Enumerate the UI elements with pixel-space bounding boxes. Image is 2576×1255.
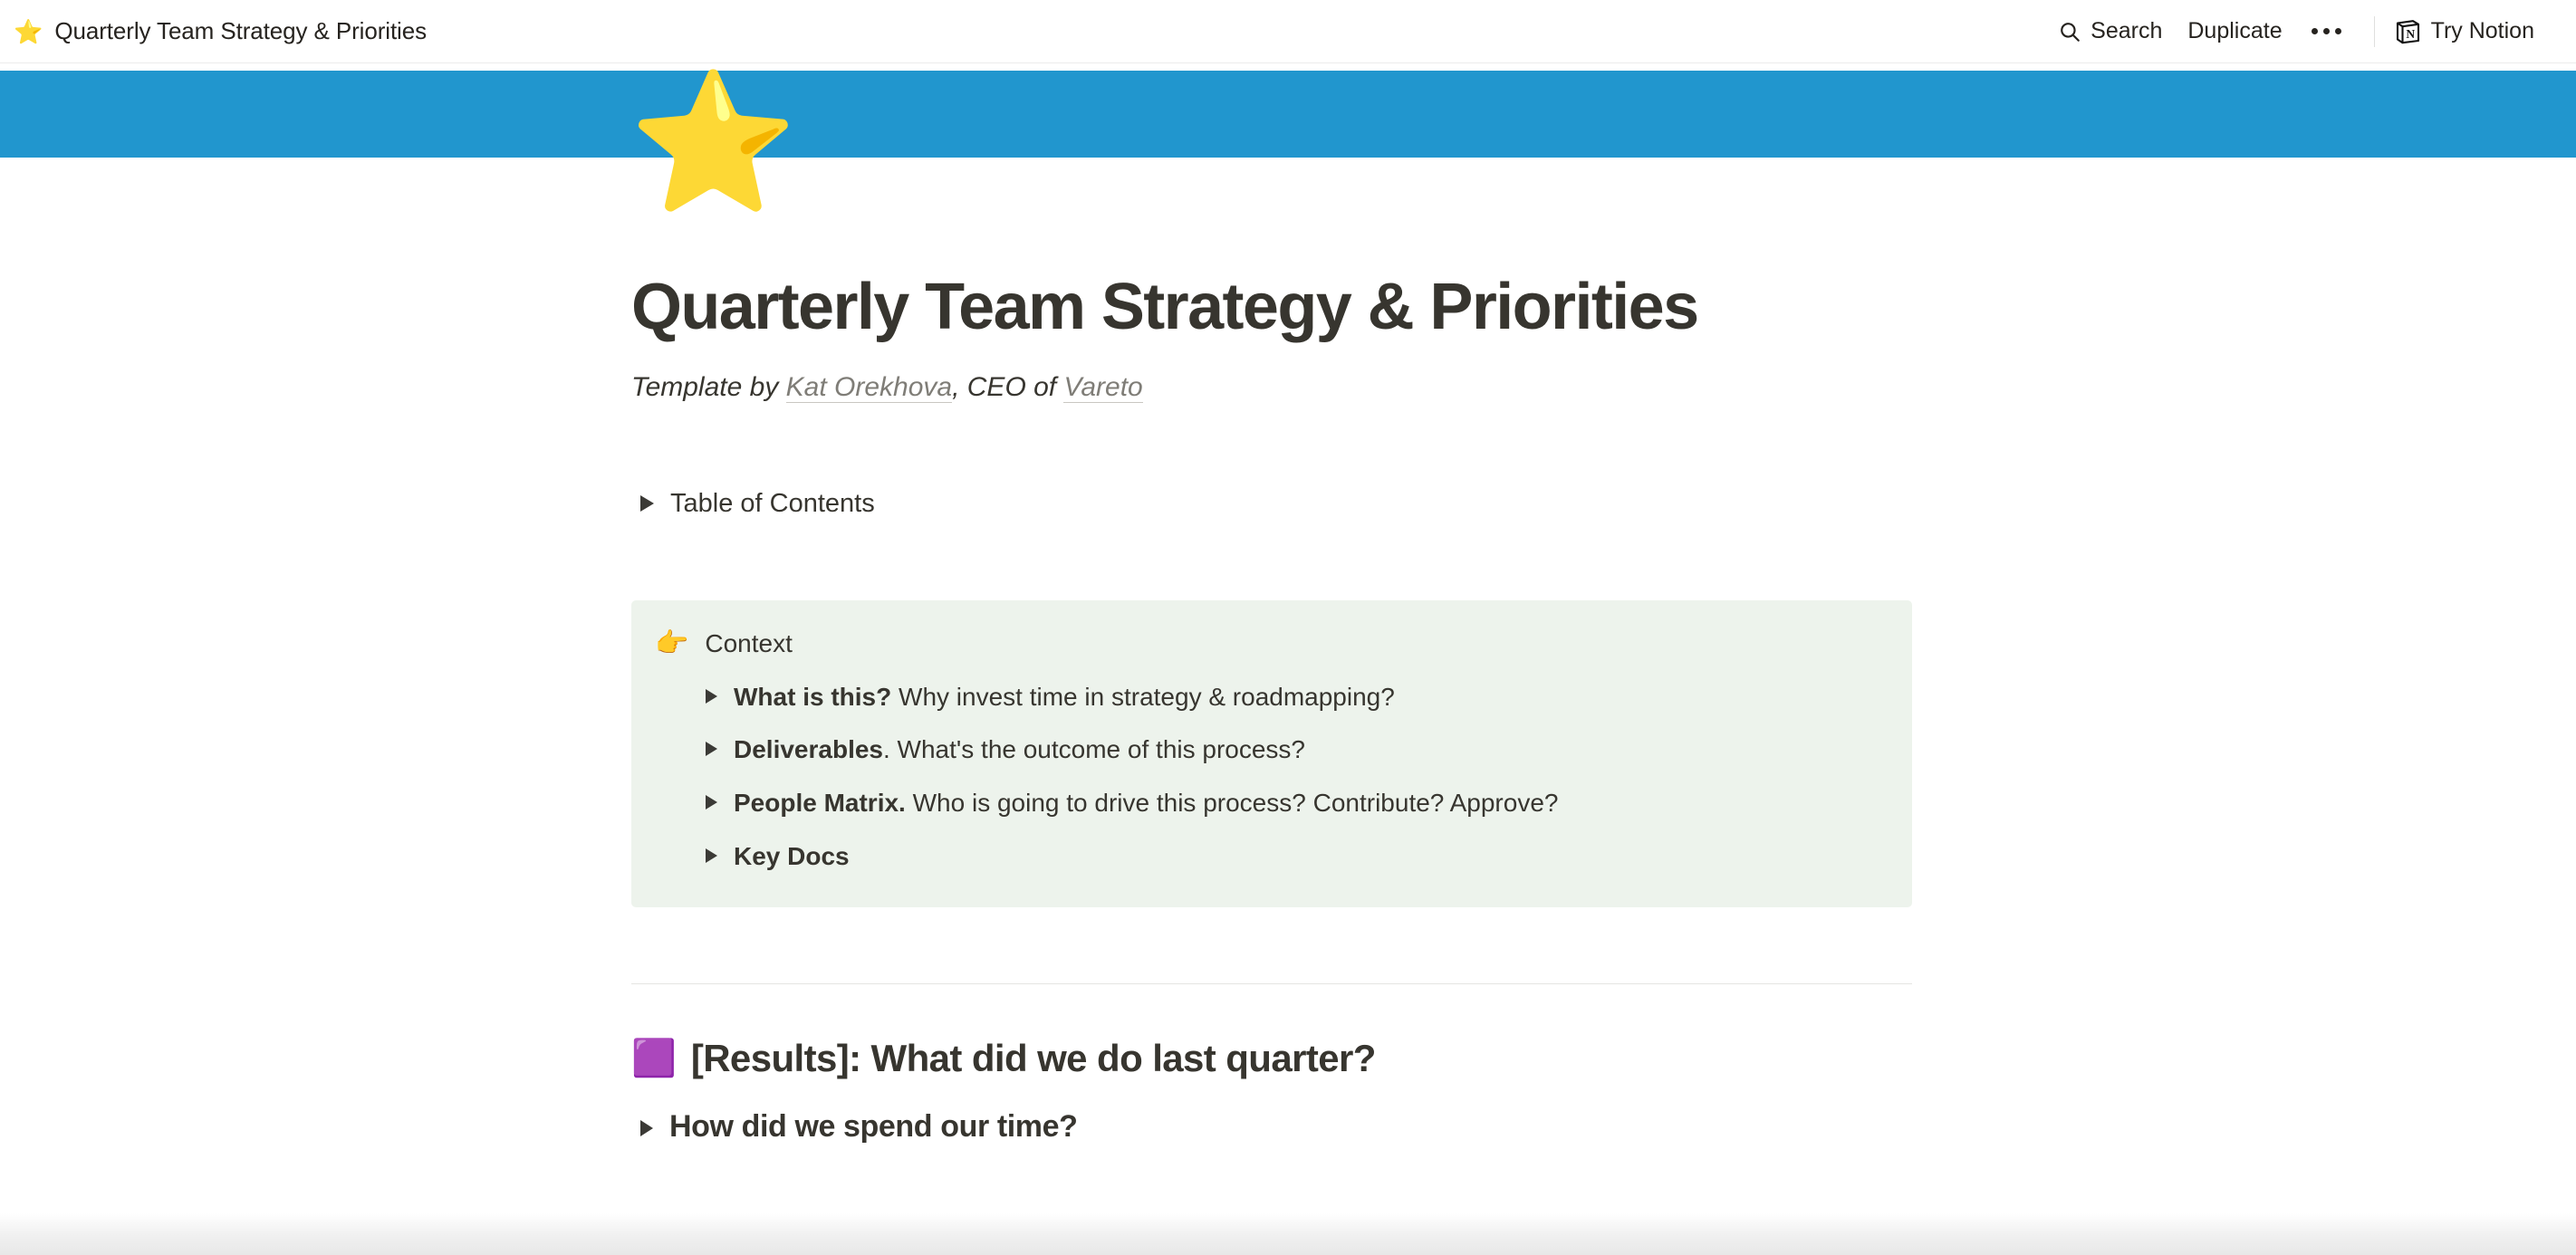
- toggle-label-bold: What is this?: [734, 683, 891, 711]
- byline-middle: , CEO of: [952, 372, 1063, 402]
- table-of-contents-label: Table of Contents: [670, 484, 875, 522]
- toggle-key-docs[interactable]: Key Docs: [706, 838, 1881, 876]
- top-bar: ⭐ Quarterly Team Strategy & Priorities S…: [0, 0, 2576, 63]
- try-notion-button[interactable]: N Try Notion: [2393, 12, 2547, 52]
- toggle-label-bold: Deliverables: [734, 735, 883, 763]
- results-heading: 🟪 [Results]: What did we do last quarter…: [631, 1037, 1912, 1080]
- toggle-people-matrix[interactable]: People Matrix. Who is going to drive thi…: [706, 785, 1881, 822]
- duplicate-button-label: Duplicate: [2187, 18, 2282, 44]
- toggle-label-rest: Who is going to drive this process? Cont…: [906, 789, 1559, 817]
- search-icon: [2058, 20, 2081, 43]
- toggle-table-of-contents[interactable]: Table of Contents: [631, 484, 1912, 522]
- byline-prefix: Template by: [631, 372, 786, 402]
- company-link[interactable]: Vareto: [1063, 372, 1142, 403]
- star-icon: ⭐: [14, 20, 43, 43]
- byline: Template by Kat Orekhova, CEO of Vareto: [631, 369, 1912, 407]
- callout-toggle-list: What is this? Why invest time in strateg…: [655, 679, 1881, 875]
- toggle-deliverables[interactable]: Deliverables. What's the outcome of this…: [706, 732, 1881, 769]
- search-button-label: Search: [2091, 18, 2162, 44]
- chevron-right-icon[interactable]: [640, 1120, 653, 1136]
- toggle-what-is-this[interactable]: What is this? Why invest time in strateg…: [706, 679, 1881, 716]
- svg-text:N: N: [2406, 27, 2415, 41]
- context-callout: 👉 Context What is this? Why invest time …: [631, 600, 1912, 907]
- callout-title: Context: [705, 626, 793, 661]
- top-bar-left: ⭐ Quarterly Team Strategy & Priorities: [11, 17, 427, 45]
- toggle-label-bold: Key Docs: [734, 842, 850, 870]
- chevron-right-icon[interactable]: [706, 795, 717, 810]
- dot-icon: [2312, 28, 2318, 34]
- bottom-fade-overlay: [0, 1213, 2576, 1255]
- toggle-label: What is this? Why invest time in strateg…: [734, 679, 1395, 716]
- notion-logo-icon: N: [2393, 17, 2422, 46]
- more-options-button[interactable]: [2297, 19, 2356, 43]
- chevron-right-icon[interactable]: [706, 742, 717, 756]
- pointing-right-icon: 👉: [655, 626, 688, 663]
- page-icon-star[interactable]: ⭐: [629, 74, 798, 210]
- page-content: Quarterly Team Strategy & Priorities Tem…: [631, 272, 1912, 1145]
- chevron-right-icon[interactable]: [706, 848, 717, 863]
- search-button[interactable]: Search: [2045, 13, 2175, 50]
- section-divider: [631, 983, 1912, 984]
- toggle-how-did-we-spend-our-time[interactable]: How did we spend our time?: [631, 1109, 1912, 1145]
- page-title: Quarterly Team Strategy & Priorities: [631, 272, 1912, 343]
- toolbar-divider: [2374, 16, 2375, 47]
- toggle-label-rest: . What's the outcome of this process?: [883, 735, 1305, 763]
- chevron-right-icon[interactable]: [640, 495, 654, 512]
- page-cover-banner: [0, 71, 2576, 158]
- chevron-right-icon[interactable]: [706, 689, 717, 704]
- toggle-label-rest: Why invest time in strategy & roadmappin…: [891, 683, 1395, 711]
- toggle-label: Key Docs: [734, 838, 850, 876]
- purple-square-icon: 🟪: [631, 1040, 677, 1077]
- toggle-label: People Matrix. Who is going to drive thi…: [734, 785, 1558, 822]
- dot-icon: [2335, 28, 2341, 34]
- dot-icon: [2323, 28, 2330, 34]
- toggle-label: Deliverables. What's the outcome of this…: [734, 732, 1305, 769]
- try-notion-label: Try Notion: [2431, 18, 2534, 44]
- top-bar-right: Search Duplicate N Try Notion: [2045, 12, 2554, 52]
- results-heading-text: [Results]: What did we do last quarter?: [691, 1037, 1376, 1080]
- subheading-text: How did we spend our time?: [669, 1109, 1078, 1145]
- callout-header: 👉 Context: [655, 626, 1881, 663]
- author-link[interactable]: Kat Orekhova: [786, 372, 952, 403]
- top-bar-page-title: Quarterly Team Strategy & Priorities: [54, 17, 427, 45]
- toggle-label-bold: People Matrix.: [734, 789, 906, 817]
- duplicate-button[interactable]: Duplicate: [2175, 13, 2294, 50]
